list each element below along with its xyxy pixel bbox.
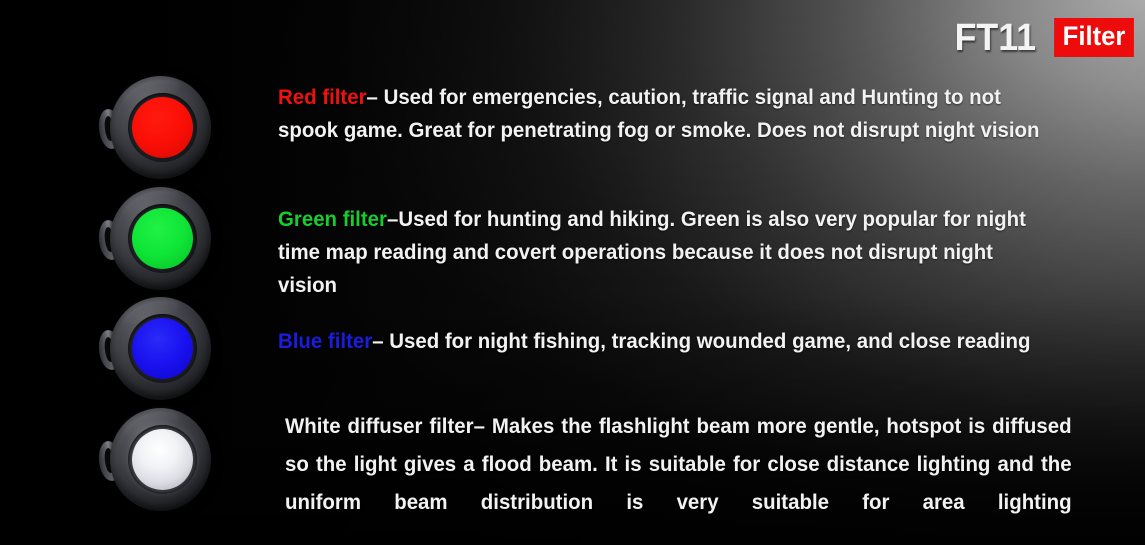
green-filter-label: Green filter <box>278 207 387 231</box>
red-description-text: Used for emergencies, caution, traffic s… <box>278 85 1039 142</box>
cap-rubber-body <box>110 297 211 400</box>
brand-badge: FT11 Filter <box>952 18 1136 57</box>
cap-rubber-body <box>110 408 211 511</box>
brand-model-name: FT11 <box>955 19 1036 57</box>
white-diffuser-cap-image <box>99 408 211 512</box>
red-filter-cap-image <box>99 76 211 180</box>
white-separator: – <box>474 414 492 438</box>
red-filter-label: Red filter <box>278 85 367 109</box>
blue-lens <box>132 318 193 379</box>
blue-filter-description: Blue filter– Used for night fishing, tra… <box>278 325 1038 358</box>
red-separator: – <box>367 85 384 109</box>
red-lens <box>132 97 193 158</box>
white-diffuser-description: White diffuser filter– Makes the flashli… <box>285 407 1072 521</box>
blue-separator: – <box>372 329 389 353</box>
green-filter-description: Green filter–Used for hunting and hiking… <box>278 203 1057 302</box>
blue-filter-label: Blue filter <box>278 329 372 353</box>
white-diffuser-lens <box>132 429 193 490</box>
cap-rubber-body <box>110 76 211 179</box>
brand-category-tag: Filter <box>1054 18 1134 57</box>
filter-product-infographic: FT11 Filter <box>0 0 1145 545</box>
red-filter-description: Red filter– Used for emergencies, cautio… <box>278 81 1057 147</box>
white-diffuser-label: White diffuser filter <box>285 414 474 438</box>
blue-description-text: Used for night fishing, tracking wounded… <box>389 329 1030 353</box>
blue-filter-cap-image <box>99 297 211 401</box>
cap-rubber-body <box>110 187 211 290</box>
green-filter-cap-image <box>99 187 211 291</box>
green-separator: – <box>387 207 398 231</box>
green-lens <box>132 208 193 269</box>
